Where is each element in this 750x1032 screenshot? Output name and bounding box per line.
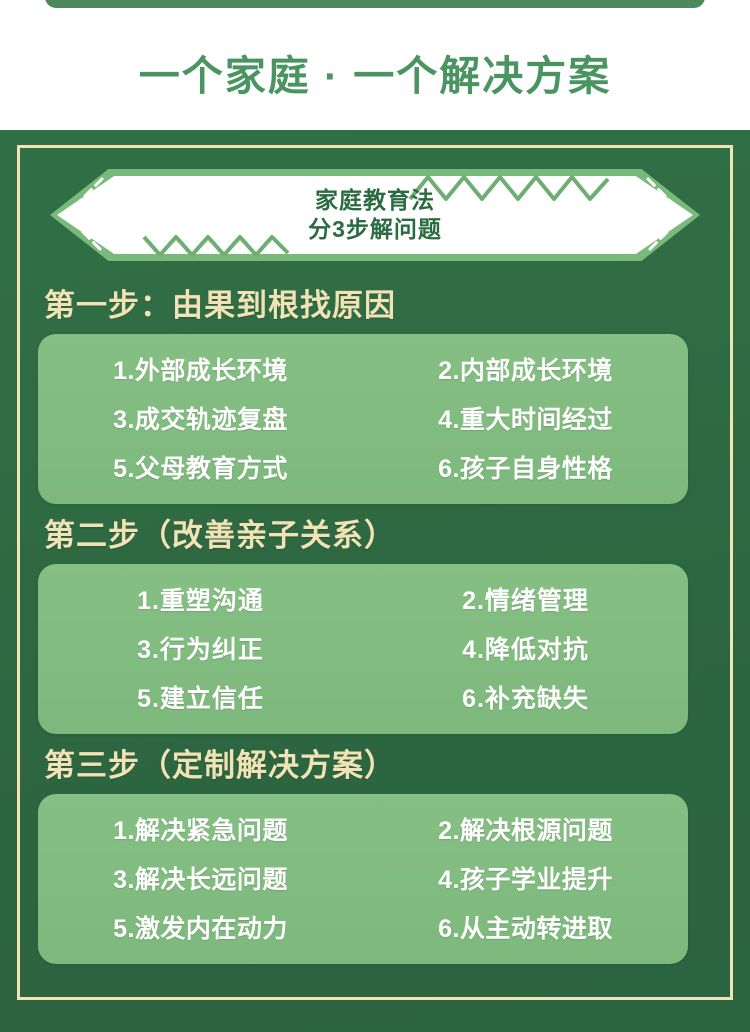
ribbon-line-1: 家庭教育法 [315, 187, 435, 214]
step-item: 6.补充缺失 [462, 679, 589, 715]
step-item: 3.行为纠正 [137, 630, 264, 666]
step-item: 2.解决根源问题 [438, 811, 613, 847]
header-band: 一个家庭 · 一个解决方案 [0, 14, 750, 130]
step-heading-1: 第一步：由果到根找原因 [38, 280, 712, 325]
step-box-3: 1.解决紧急问题 2.解决根源问题 3.解决长远问题 4.孩子学业提升 5.激发… [38, 794, 688, 964]
step-item: 2.情绪管理 [462, 581, 589, 617]
step-section-2: 第二步（改善亲子关系） 1.重塑沟通 2.情绪管理 3.行为纠正 4.降低对抗 … [38, 510, 712, 734]
step-box-1: 1.外部成长环境 2.内部成长环境 3.成交轨迹复盘 4.重大时间经过 5.父母… [38, 334, 688, 504]
step-item: 1.外部成长环境 [113, 351, 288, 387]
step-item: 5.父母教育方式 [113, 449, 288, 485]
step-item-grid-1: 1.外部成长环境 2.内部成长环境 3.成交轨迹复盘 4.重大时间经过 5.父母… [38, 351, 688, 485]
previous-section-pill [45, 0, 705, 8]
steps-container: 第一步：由果到根找原因 1.外部成长环境 2.内部成长环境 3.成交轨迹复盘 4… [38, 280, 712, 970]
step-section-1: 第一步：由果到根找原因 1.外部成长环境 2.内部成长环境 3.成交轨迹复盘 4… [38, 280, 712, 504]
poster-panel: 家庭教育法 分3步解问题 第一步：由果到根找原因 1.外部成长环境 2.内部成长… [0, 130, 750, 1032]
step-item: 3.成交轨迹复盘 [113, 400, 288, 436]
step-heading-2: 第二步（改善亲子关系） [38, 510, 712, 555]
step-item: 6.孩子自身性格 [438, 449, 613, 485]
step-item-grid-2: 1.重塑沟通 2.情绪管理 3.行为纠正 4.降低对抗 5.建立信任 6.补充缺… [38, 581, 688, 715]
step-item: 6.从主动转进取 [438, 909, 613, 945]
page-title: 一个家庭 · 一个解决方案 [139, 42, 611, 102]
step-item: 1.重塑沟通 [137, 581, 264, 617]
step-item: 4.重大时间经过 [438, 400, 613, 436]
step-section-3: 第三步（定制解决方案） 1.解决紧急问题 2.解决根源问题 3.解决长远问题 4… [38, 740, 712, 964]
step-item: 5.激发内在动力 [113, 909, 288, 945]
ribbon-line-2: 分3步解问题 [308, 216, 442, 243]
step-item: 4.孩子学业提升 [438, 860, 613, 896]
ribbon-text: 家庭教育法 分3步解问题 [50, 169, 700, 261]
step-item: 3.解决长远问题 [113, 860, 288, 896]
step-item: 2.内部成长环境 [438, 351, 613, 387]
step-item: 1.解决紧急问题 [113, 811, 288, 847]
infographic-page: 一个家庭 · 一个解决方案 家庭教育法 分3步解问题 [0, 0, 750, 1032]
step-box-2: 1.重塑沟通 2.情绪管理 3.行为纠正 4.降低对抗 5.建立信任 6.补充缺… [38, 564, 688, 734]
step-item-grid-3: 1.解决紧急问题 2.解决根源问题 3.解决长远问题 4.孩子学业提升 5.激发… [38, 811, 688, 945]
step-heading-3: 第三步（定制解决方案） [38, 740, 712, 785]
step-item: 5.建立信任 [137, 679, 264, 715]
step-item: 4.降低对抗 [462, 630, 589, 666]
ribbon-banner: 家庭教育法 分3步解问题 [50, 169, 700, 261]
